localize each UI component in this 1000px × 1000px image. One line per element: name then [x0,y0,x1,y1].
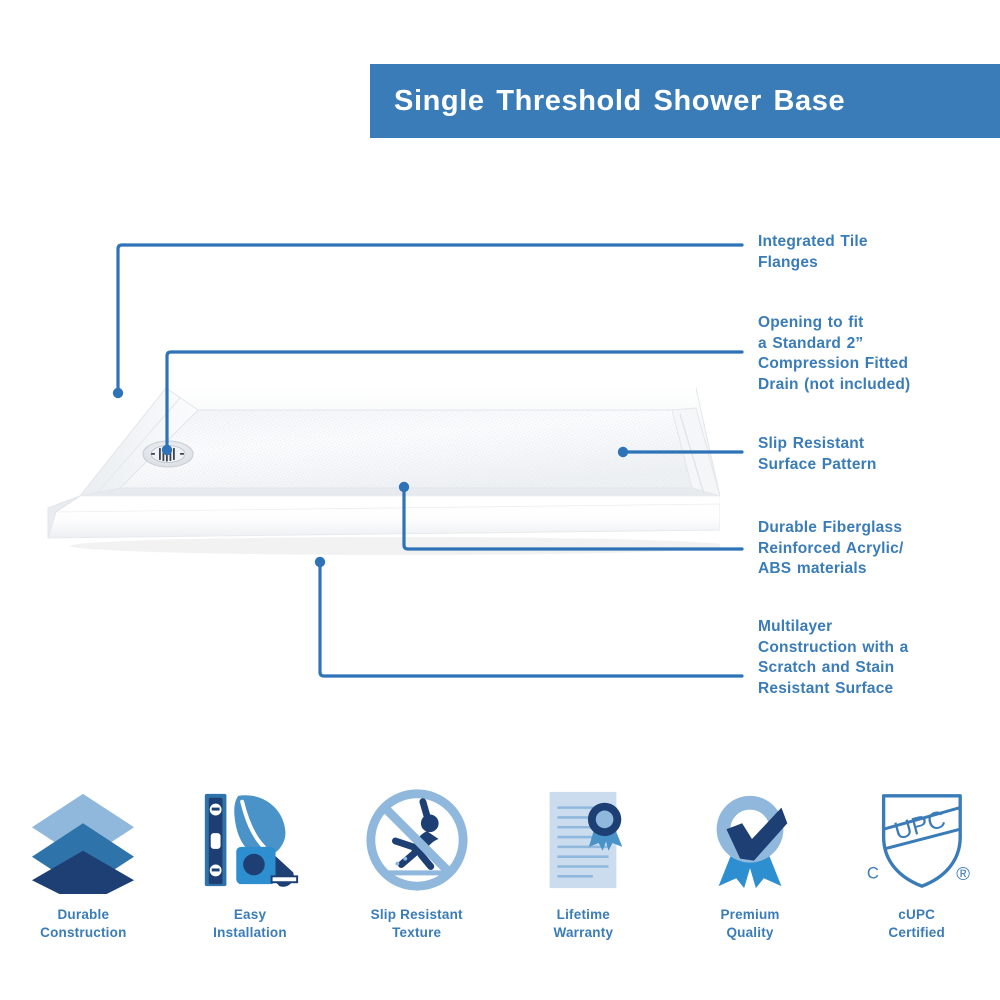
feature-label-slip-resistant-texture: Slip Resistant Texture [371,906,463,941]
callout-label-multilayer-construction: Multilayer Construction with a Scratch a… [758,617,998,699]
level-trowel-tape-icon [190,780,310,900]
feature-easy-installation: Easy Installation [167,780,334,960]
leader-dot-multilayer [315,557,325,567]
leader-multilayer-construction [320,562,742,676]
callout-label-durable-materials: Durable Fiberglass Reinforced Acrylic/ A… [758,518,998,580]
upc-left-mark: C [867,863,879,882]
check-rosette-icon [690,780,810,900]
upc-shield-icon: UPC C ® [857,780,977,900]
feature-premium-quality: Premium Quality [667,780,834,960]
feature-cupc-certified: UPC C ® cUPC Certified [833,780,1000,960]
callout-label-drain-opening: Opening to fit a Standard 2” Compression… [758,313,998,395]
feature-badges-row: Durable Construction [0,780,1000,960]
feature-label-easy-installation: Easy Installation [213,906,287,941]
leader-dot-surface-pattern [618,447,628,457]
leader-drain-opening [167,352,742,450]
certificate-ribbon-icon [523,780,643,900]
leader-dot-tile-flanges [113,388,123,398]
leader-integrated-tile-flanges [118,245,742,393]
feature-label-premium-quality: Premium Quality [720,906,779,941]
leader-dot-drain [162,445,172,455]
callout-label-integrated-tile-flanges: Integrated Tile Flanges [758,232,998,273]
feature-slip-resistant-texture: Slip Resistant Texture [333,780,500,960]
layers-icon [23,780,143,900]
feature-durable-construction: Durable Construction [0,780,167,960]
leader-dot-materials [399,482,409,492]
feature-label-durable-construction: Durable Construction [40,906,126,941]
no-slip-icon [357,780,477,900]
infographic-canvas: Single Threshold Shower Base [0,0,1000,1000]
upc-shield-text: UPC [891,806,948,845]
feature-label-lifetime-warranty: Lifetime Warranty [554,906,614,941]
feature-label-cupc-certified: cUPC Certified [888,906,945,941]
feature-lifetime-warranty: Lifetime Warranty [500,780,667,960]
leader-durable-materials [404,487,742,549]
upc-right-mark: ® [956,863,970,884]
callout-label-slip-resistant-surface: Slip Resistant Surface Pattern [758,434,998,475]
